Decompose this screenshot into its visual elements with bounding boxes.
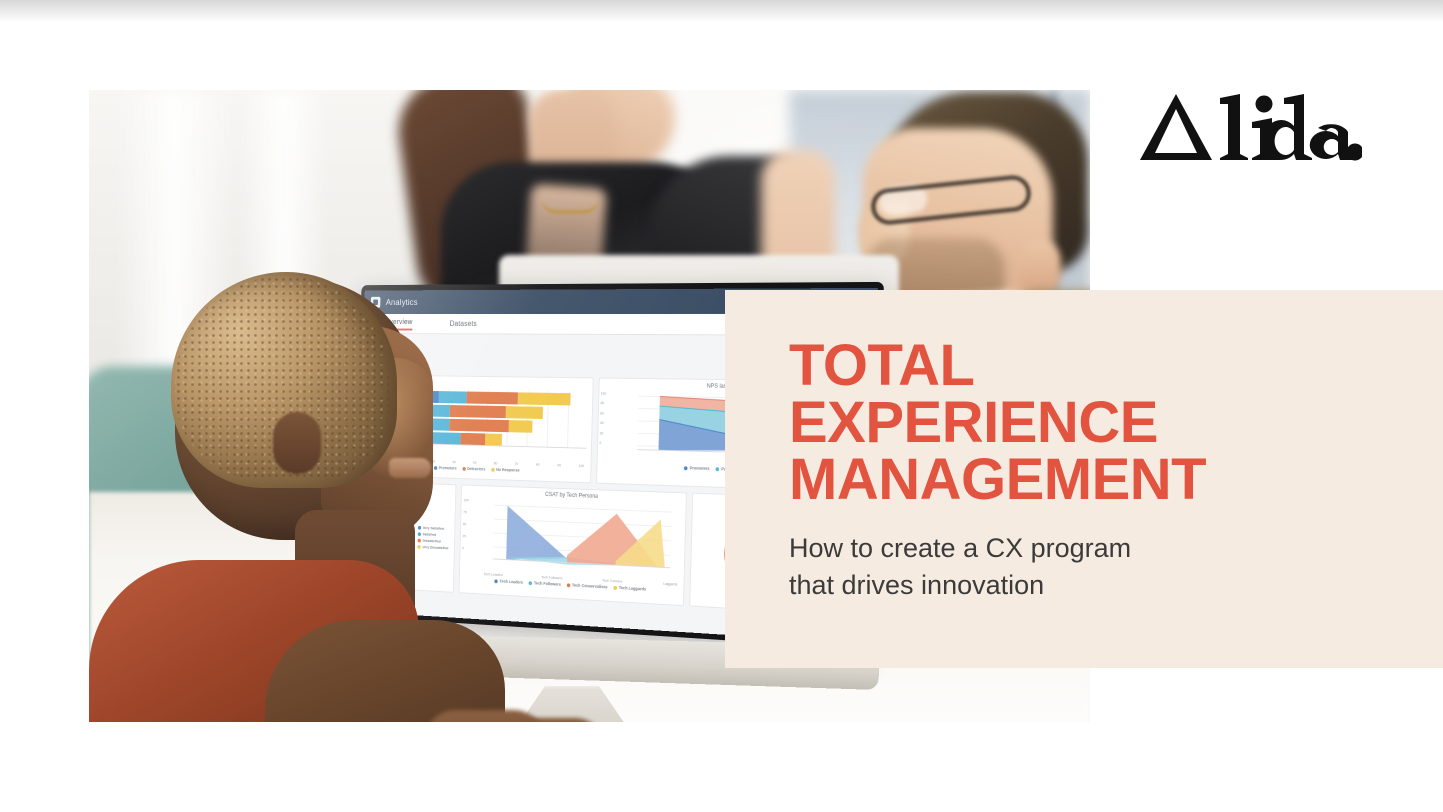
legend-label: Promoters bbox=[690, 466, 710, 471]
foreground-woman-ear bbox=[273, 412, 321, 474]
subtitle-line-1: How to create a CX program bbox=[789, 530, 1423, 566]
legend-label: No Response bbox=[496, 467, 520, 472]
legend-label: Detractors bbox=[467, 466, 485, 471]
card-csat-by-tech-persona[interactable]: CSAT by Tech Persona 1007550250 bbox=[459, 485, 687, 607]
peak-area-chart bbox=[464, 497, 681, 578]
triangle-a-wordmark-icon bbox=[1136, 92, 1362, 164]
title-line-1: TOTAL bbox=[789, 338, 1423, 395]
legend-label: Very Dissatisfied bbox=[422, 544, 448, 550]
alida-logo bbox=[1136, 92, 1362, 164]
pdf-cover-page: Analytics bbox=[0, 0, 1443, 812]
legend-label: Satisfied bbox=[423, 532, 437, 537]
title-line-2: EXPERIENCE bbox=[789, 395, 1423, 452]
legend-label: Tech Followers bbox=[534, 581, 561, 587]
title-block: TOTAL EXPERIENCE MANAGEMENT How to creat… bbox=[789, 338, 1423, 603]
foreground-woman-lips bbox=[389, 458, 431, 478]
legend-label: Tech Conservatives bbox=[572, 583, 608, 590]
dashboard-app-title: Analytics bbox=[386, 297, 418, 307]
background-woman-necklace bbox=[541, 198, 599, 214]
chart-legend: Very Satisfied Satisfied Dissatisfied Ve… bbox=[417, 525, 448, 550]
viewer-top-edge bbox=[0, 0, 1443, 22]
subtitle: How to create a CX program that drives i… bbox=[789, 530, 1423, 603]
legend-label: Very Satisfied bbox=[423, 525, 444, 531]
subtitle-line-2: that drives innovation bbox=[789, 567, 1423, 603]
title-panel: TOTAL EXPERIENCE MANAGEMENT How to creat… bbox=[725, 290, 1443, 668]
background-man-ear bbox=[1019, 240, 1061, 296]
legend-label: Tech Laggards bbox=[619, 585, 646, 591]
title-line-3: MANAGEMENT bbox=[789, 452, 1423, 509]
legend-label: Dissatisfied bbox=[422, 538, 440, 543]
legend-label: Tech Leaders bbox=[500, 579, 524, 585]
tab-datasets[interactable]: Datasets bbox=[450, 320, 477, 328]
legend-label: Promoters bbox=[439, 465, 457, 470]
